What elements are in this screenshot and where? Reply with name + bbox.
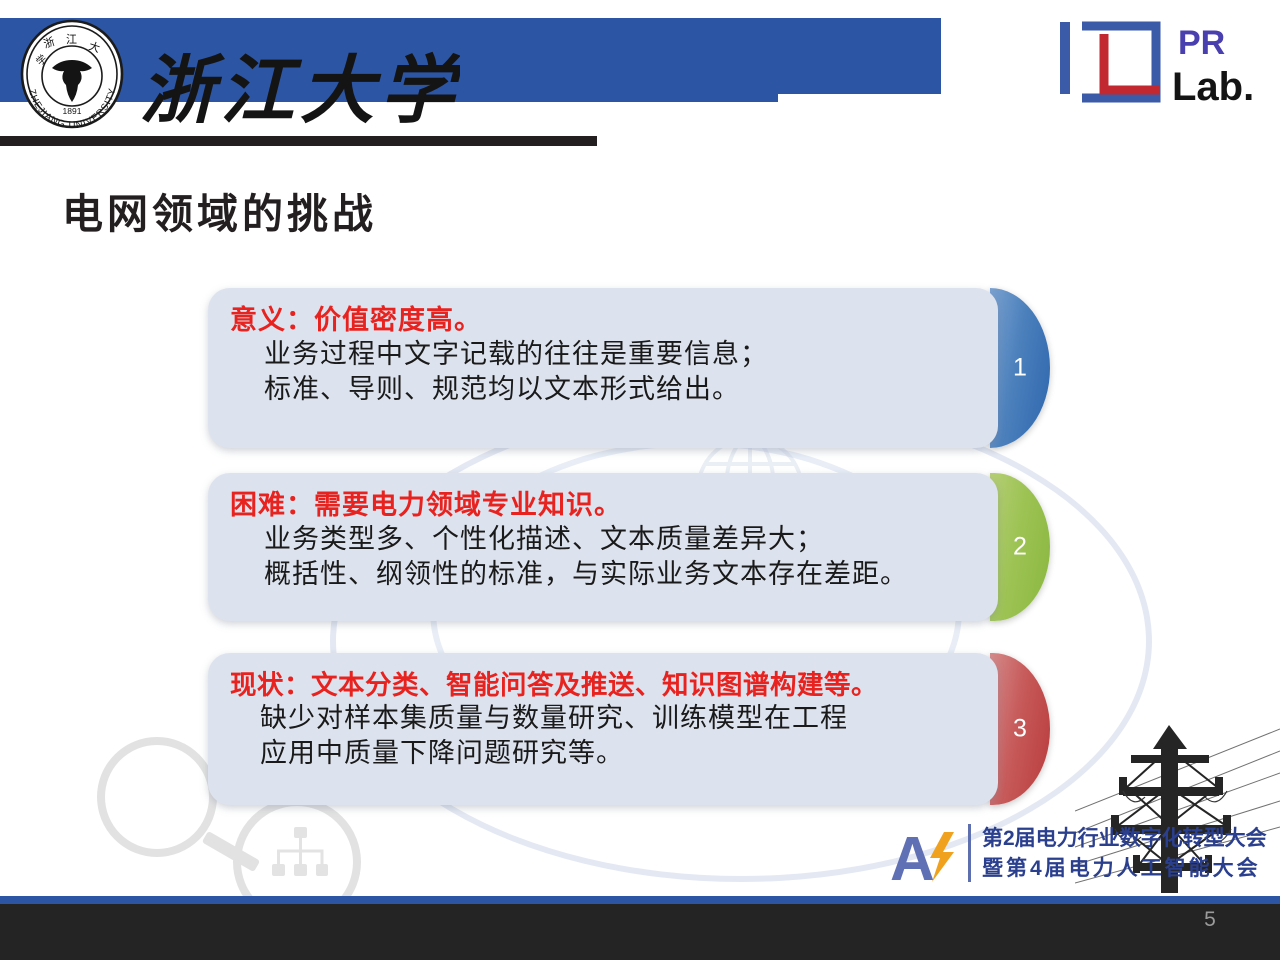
content-panel-1: 意义：价值密度高。 业务过程中文字记载的往往是重要信息； 标准、导则、规范均以文… (208, 288, 998, 448)
row-subline-2-1: 业务类型多、个性化描述、文本质量差异大； (264, 522, 976, 557)
conference-line-2: 暨第4届电力人工智能大会 (982, 852, 1261, 882)
row-lead-label-2: 困难： (230, 490, 314, 520)
row-badge-number-1: 1 (990, 354, 1050, 383)
row-subline-1-1: 业务过程中文字记载的往往是重要信息； (264, 337, 976, 372)
row-lead-1: 意义：价值密度高。 (230, 304, 976, 337)
content-panel-3: 现状：文本分类、智能问答及推送、知识图谱构建等。 缺少对样本集质量与数量研究、训… (208, 653, 998, 805)
row-lead-body-2: 需要电力领域专业知识。 (314, 490, 622, 520)
pr-lab-logo: PR Lab. (1060, 14, 1275, 114)
pr-lab-line2: Lab. (1172, 65, 1254, 109)
row-subline-3-2: 应用中质量下降问题研究等。 (260, 736, 976, 771)
row-lead-2: 困难：需要电力领域专业知识。 (230, 489, 976, 522)
footer-bar (0, 904, 1280, 960)
row-lead-3: 现状：文本分类、智能问答及推送、知识图谱构建等。 (230, 669, 976, 701)
row-subline-2-2: 概括性、纲领性的标准，与实际业务文本存在差距。 (264, 557, 976, 592)
watermark-magnifier-icon (95, 735, 220, 860)
watermark-hierarchy-icon (272, 827, 328, 877)
header-blue-band-step (778, 18, 941, 94)
conference-divider (968, 824, 971, 882)
row-badge-3: 3 (990, 653, 1050, 805)
watermark-magnifier-handle (202, 831, 260, 872)
zhejiang-university-wordmark-cn: 浙江大学 (140, 38, 460, 143)
svg-text:江: 江 (66, 33, 77, 46)
row-badge-number-3: 3 (990, 715, 1050, 744)
row-lead-body-1: 价值密度高。 (314, 305, 482, 335)
pr-lab-line1: PR (1178, 24, 1225, 62)
row-lead-label-3: 现状： (230, 670, 311, 700)
row-badge-number-2: 2 (990, 533, 1050, 562)
page-title: 电网领域的挑战 (62, 180, 377, 240)
page-number: 5 (1190, 908, 1230, 932)
conference-mark-icon: A (890, 824, 968, 886)
zhejiang-university-seal-icon: 浙 江 大 学 1891 ZHEJIANG UNIVERSITY (16, 18, 128, 130)
conference-line-1: 第2届电力行业数字化转型大会 (982, 822, 1267, 852)
row-subline-3-1: 缺少对样本集质量与数量研究、训练模型在工程 (260, 701, 976, 736)
row-subline-1-2: 标准、导则、规范均以文本形式给出。 (264, 372, 976, 407)
slide-canvas: 浙 江 大 学 1891 ZHEJIANG UNIVERSITY 浙江大学 PR… (0, 0, 1280, 960)
row-lead-label-1: 意义： (230, 305, 314, 335)
conference-logo: A 第2届电力行业数字化转型大会 暨第4届电力人工智能大会 (890, 818, 1220, 898)
conference-mark-letter: A (890, 825, 935, 886)
content-panel-2: 困难：需要电力领域专业知识。 业务类型多、个性化描述、文本质量差异大； 概括性、… (208, 473, 998, 621)
row-lead-body-3: 文本分类、智能问答及推送、知识图谱构建等。 (311, 670, 878, 700)
svg-text:1891: 1891 (63, 106, 82, 116)
row-badge-2: 2 (990, 473, 1050, 621)
footer-blue-rule (0, 896, 1280, 904)
row-badge-1: 1 (990, 288, 1050, 448)
zju-wordmark-text: 浙江大学 (140, 51, 460, 133)
